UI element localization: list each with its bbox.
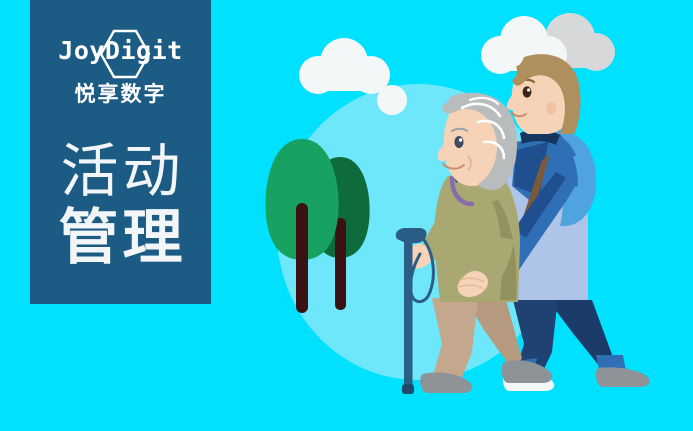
cane-shaft — [404, 240, 413, 388]
page-title-line1: 活动 — [30, 138, 211, 204]
young-man-eye-glint — [527, 88, 530, 91]
brand-chinese-name: 悦享数字 — [30, 84, 211, 105]
brand-lockup: JoyDigit 悦享数字 — [30, 26, 211, 105]
page-title-line2: 管理 — [30, 204, 211, 272]
brand-wordmark: JoyDigit — [30, 38, 211, 63]
tree-front-trunk — [296, 203, 308, 313]
young-man-eye — [523, 86, 532, 97]
elderly-eye — [454, 136, 463, 148]
elderly-eye-glint — [459, 138, 462, 141]
brand-mark: JoyDigit — [30, 26, 211, 82]
page-title: 活动 管理 — [30, 138, 211, 272]
cane-tip — [402, 384, 414, 394]
cloud-edge-left — [377, 85, 407, 115]
title-panel: JoyDigit 悦享数字 活动 管理 — [30, 0, 211, 304]
poster-canvas: JoyDigit 悦享数字 活动 管理 — [0, 0, 693, 431]
tree-back-trunk — [335, 218, 346, 310]
